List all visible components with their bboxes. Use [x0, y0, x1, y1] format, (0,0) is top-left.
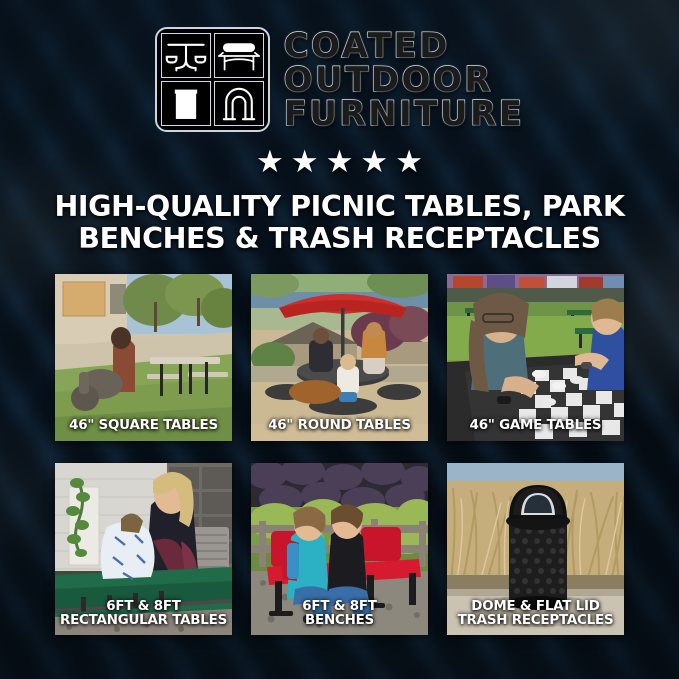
product-photo-game-tables	[447, 274, 624, 441]
star-rating: ★ ★ ★ ★ ★	[256, 146, 423, 177]
product-tile-square-tables[interactable]: 46" SQUARE TABLES	[55, 274, 232, 441]
caption-line-1: 46" GAME TABLES	[450, 419, 621, 433]
star-icon: ★	[256, 146, 284, 177]
product-tile-benches[interactable]: 6FT & 8FT BENCHES	[251, 463, 428, 635]
headline-line-1: HIGH-QUALITY PICNIC TABLES, PARK	[54, 191, 624, 223]
brand-lockup: COATED OUTDOOR FURNITURE	[155, 27, 525, 132]
product-caption-trash-receptacles: DOME & FLAT LID TRASH RECEPTACLES	[447, 600, 624, 629]
caption-line-2: BENCHES	[254, 614, 425, 628]
product-caption-game-tables: 46" GAME TABLES	[447, 419, 624, 433]
picnic-table-icon	[161, 33, 211, 78]
star-icon: ★	[326, 146, 354, 177]
caption-line-2: TRASH RECEPTACLES	[450, 614, 621, 628]
headline: HIGH-QUALITY PICNIC TABLES, PARK BENCHES…	[28, 191, 650, 255]
product-caption-round-tables: 46" ROUND TABLES	[251, 419, 428, 433]
product-photo-round-tables	[251, 274, 428, 441]
star-icon: ★	[395, 146, 423, 177]
headline-line-2: BENCHES & TRASH RECEPTACLES	[54, 223, 624, 255]
product-tile-rectangular-tables[interactable]: 6FT & 8FT RECTANGULAR TABLES	[55, 463, 232, 635]
product-caption-rectangular-tables: 6FT & 8FT RECTANGULAR TABLES	[55, 600, 232, 629]
caption-line-1: 46" ROUND TABLES	[254, 419, 425, 433]
wordmark-line-furniture: FURNITURE	[284, 98, 525, 131]
caption-line-1: 46" SQUARE TABLES	[58, 419, 229, 433]
product-caption-square-tables: 46" SQUARE TABLES	[55, 419, 232, 433]
star-icon: ★	[360, 146, 388, 177]
trash-receptacle-flat-lid-icon	[161, 81, 211, 126]
wordmark-line-coated: COATED	[284, 30, 525, 63]
product-tile-round-tables[interactable]: 46" ROUND TABLES	[251, 274, 428, 441]
bench-icon	[214, 33, 264, 78]
product-category-grid: 46" SQUARE TABLES	[55, 274, 625, 635]
coated-outdoor-furniture-logo-mark	[155, 27, 270, 132]
wordmark-line-outdoor: OUTDOOR	[284, 64, 525, 97]
product-banner: COATED OUTDOOR FURNITURE ★ ★ ★ ★ ★ HIGH-…	[0, 0, 679, 679]
product-photo-square-tables	[55, 274, 232, 441]
brand-wordmark: COATED OUTDOOR FURNITURE	[284, 28, 525, 131]
caption-line-2: RECTANGULAR TABLES	[58, 614, 229, 628]
star-icon: ★	[291, 146, 319, 177]
product-tile-trash-receptacles[interactable]: DOME & FLAT LID TRASH RECEPTACLES	[447, 463, 624, 635]
banner-content: COATED OUTDOOR FURNITURE ★ ★ ★ ★ ★ HIGH-…	[0, 0, 679, 679]
trash-receptacle-dome-lid-icon	[214, 81, 264, 126]
product-tile-game-tables[interactable]: 46" GAME TABLES	[447, 274, 624, 441]
product-caption-benches: 6FT & 8FT BENCHES	[251, 600, 428, 629]
